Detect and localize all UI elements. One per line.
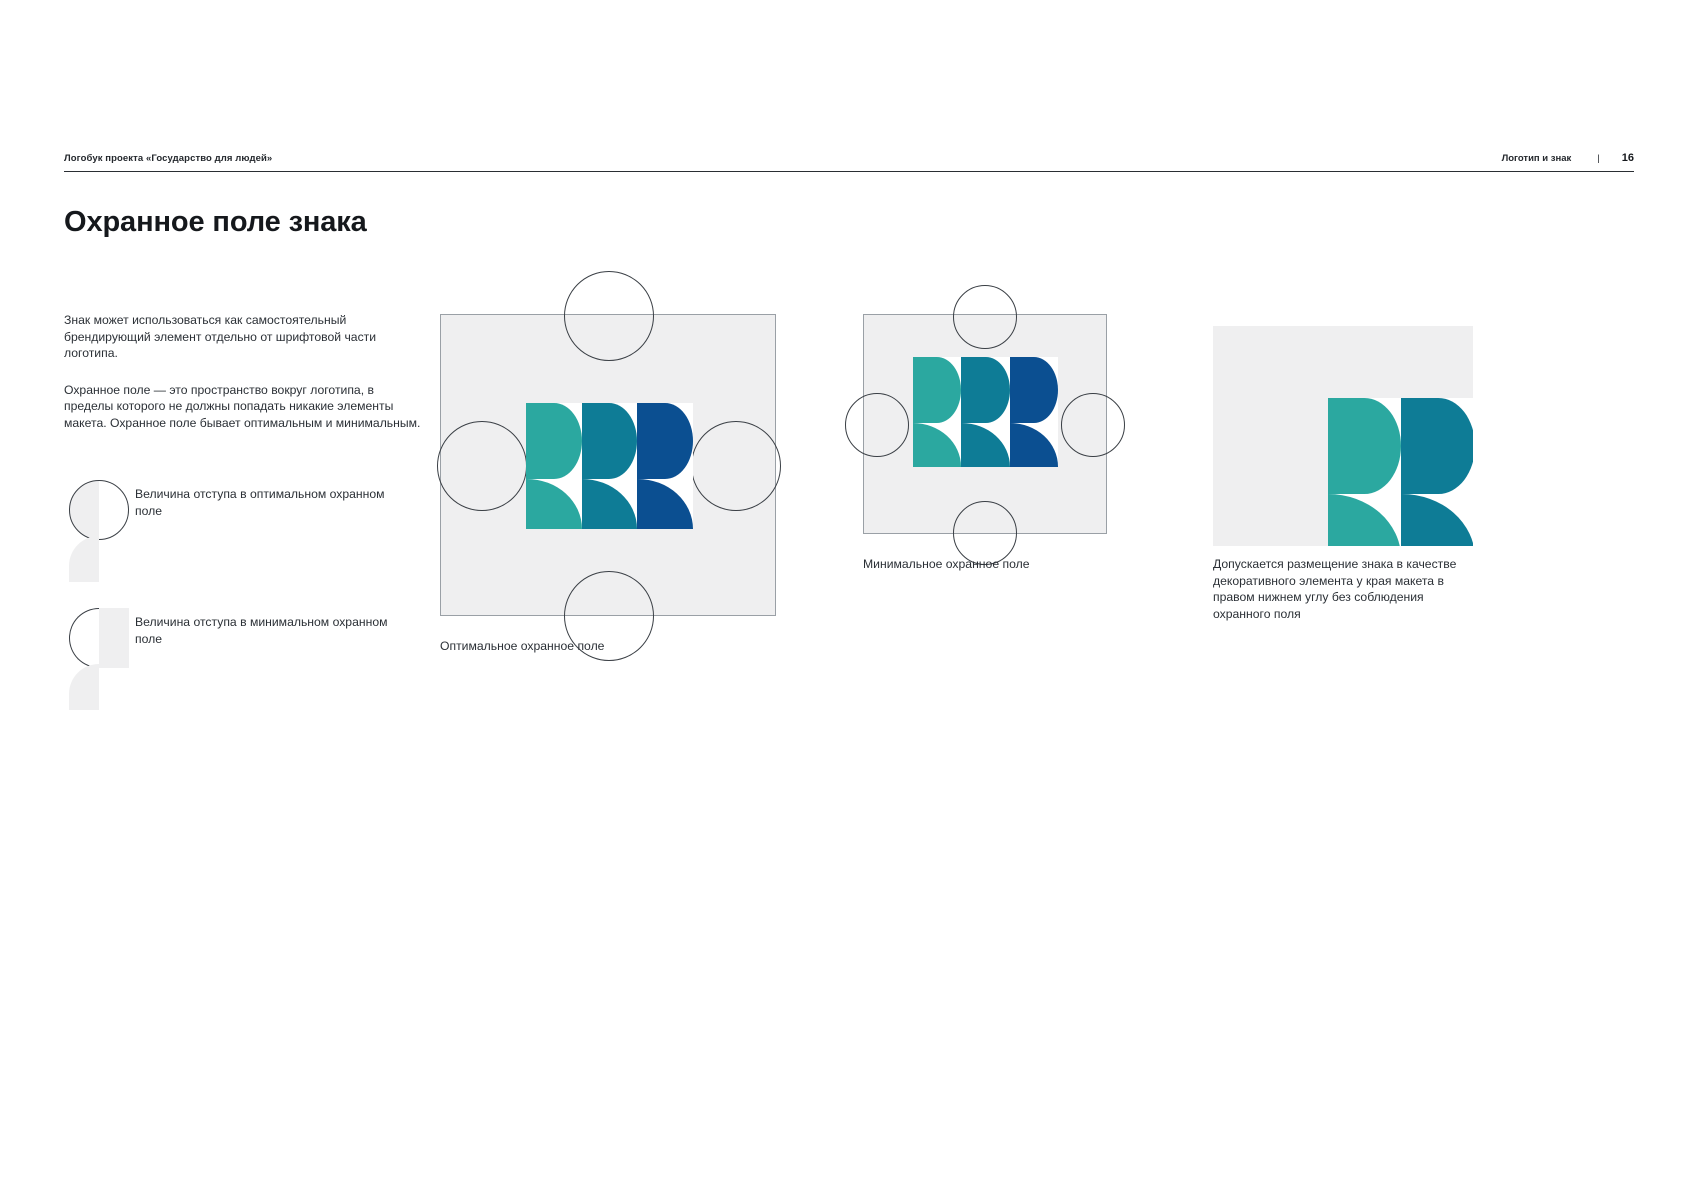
logo-mark-min-column-3 <box>1010 357 1058 467</box>
min-clearspace-circle-right <box>1061 393 1125 457</box>
legend-item-minimal: Величина отступа в минимальном охранном … <box>64 606 394 734</box>
page-header: Логобук проекта «Государство для людей» … <box>64 152 1634 172</box>
corner-placement-panel <box>1213 326 1473 546</box>
logobook-title: Логобук проекта «Государство для людей» <box>64 153 272 164</box>
min-clearspace-circle-left <box>845 393 909 457</box>
legend: Величина отступа в оптимальном охранном … <box>64 478 394 734</box>
half-circle-marker <box>64 606 132 674</box>
logo-fragment-icon-2 <box>69 664 99 710</box>
header-separator: | <box>1597 153 1599 164</box>
intro-paragraph-2: Охранное поле — это пространство вокруг … <box>64 382 424 432</box>
logo-mark-minimal <box>913 357 1058 467</box>
clearspace-circle-left <box>437 421 527 511</box>
circle-outline-icon <box>69 480 129 540</box>
minimal-clearspace-caption: Минимальное охранное поле <box>863 556 1163 573</box>
legend-item-optimal: Величина отступа в оптимальном охранном … <box>64 478 394 606</box>
logo-mark-min-column-1 <box>913 357 961 467</box>
legend-label-optimal: Величина отступа в оптимальном охранном … <box>135 478 394 519</box>
half-circle-outline-icon <box>69 608 129 668</box>
page-number: 16 <box>1622 152 1634 164</box>
logo-mark-min-column-2 <box>961 357 1009 467</box>
optimal-clearspace-panel <box>440 314 776 616</box>
logo-mark-corner-column-2 <box>1401 398 1473 546</box>
clearspace-circle-right <box>691 421 781 511</box>
corner-placement-caption: Допускается размещение знака в качестве … <box>1213 556 1463 622</box>
logo-fragment-icon <box>69 536 99 582</box>
logo-mark-column-3 <box>637 403 693 529</box>
logo-mark-corner-column-1 <box>1328 398 1401 546</box>
optimal-clearspace-caption: Оптимальное охранное поле <box>440 638 770 655</box>
logo-mark-corner <box>1328 398 1473 546</box>
header-right-group: Логотип и знак | 16 <box>1502 152 1634 164</box>
clearspace-circle-top <box>564 271 654 361</box>
intro-paragraph-1: Знак может использоваться как самостояте… <box>64 312 424 362</box>
section-name: Логотип и знак <box>1502 153 1572 164</box>
page-title: Охранное поле знака <box>64 206 367 239</box>
min-clearspace-circle-top <box>953 285 1017 349</box>
logo-mark <box>526 403 693 529</box>
logo-mark-column-1 <box>526 403 582 529</box>
intro-text-block: Знак может использоваться как самостояте… <box>64 312 424 432</box>
full-circle-marker <box>64 478 132 546</box>
logo-mark-column-2 <box>582 403 638 529</box>
minimal-clearspace-panel <box>863 314 1107 534</box>
legend-label-minimal: Величина отступа в минимальном охранном … <box>135 606 394 647</box>
